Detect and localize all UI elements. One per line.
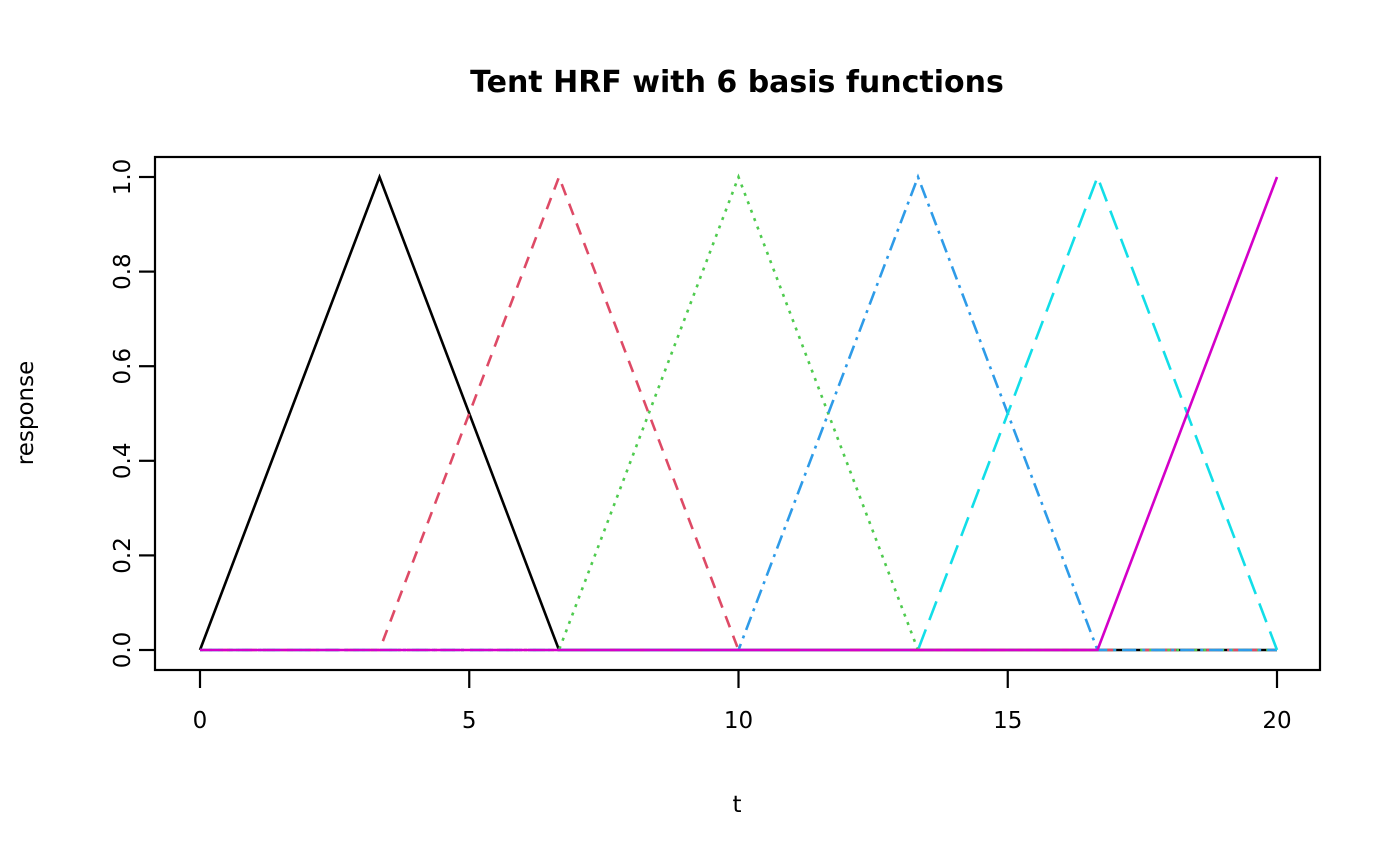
x-tick-label: 0 (193, 708, 208, 734)
x-axis-title: t (732, 792, 741, 818)
page-title: Tent HRF with 6 basis functions (470, 65, 1004, 100)
x-tick-label: 15 (993, 708, 1022, 734)
y-tick-label: 0.4 (110, 443, 136, 480)
y-tick-label: 1.0 (110, 159, 136, 196)
x-tick-label: 5 (462, 708, 477, 734)
y-axis-title: response (13, 361, 39, 465)
tent-hrf-plot: Tent HRF with 6 basis functions 0.00.20.… (0, 0, 1400, 866)
chart-figure: Tent HRF with 6 basis functions 0.00.20.… (0, 0, 1400, 866)
x-tick-label: 10 (724, 708, 753, 734)
y-tick-label: 0.8 (110, 253, 136, 290)
y-tick-label: 0.2 (110, 537, 136, 574)
y-tick-label: 0.6 (110, 348, 136, 385)
y-tick-label: 0.0 (110, 632, 136, 669)
x-tick-label: 20 (1262, 708, 1291, 734)
figure-background (0, 0, 1400, 866)
